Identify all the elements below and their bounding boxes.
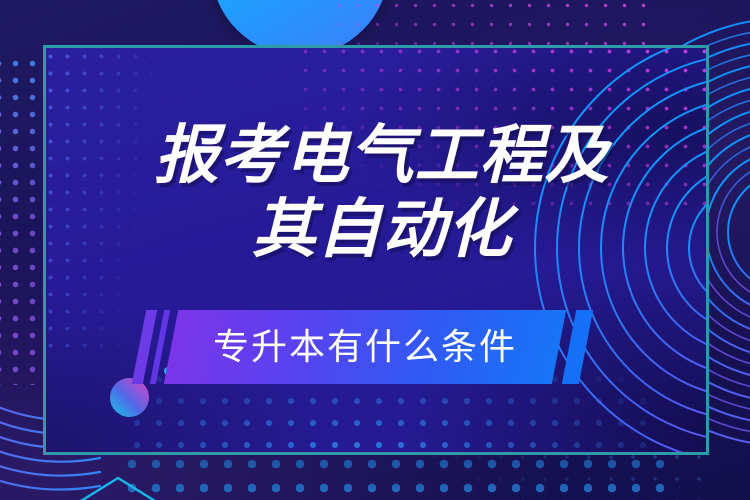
title-line-2: 其自动化 bbox=[0, 192, 750, 266]
cyan-chevron-icon bbox=[58, 470, 178, 500]
poster-banner: 报考电气工程及 其自动化 专升本有什么条件 bbox=[0, 0, 750, 500]
subtitle-accent-bar-right bbox=[562, 310, 593, 384]
subtitle-text: 专升本有什么条件 bbox=[213, 327, 517, 367]
poster-title: 报考电气工程及 其自动化 bbox=[0, 118, 750, 266]
title-line-1: 报考电气工程及 bbox=[0, 118, 750, 192]
subtitle-banner-body: 专升本有什么条件 bbox=[164, 310, 566, 384]
subtitle-banner: 专升本有什么条件 bbox=[137, 310, 617, 384]
